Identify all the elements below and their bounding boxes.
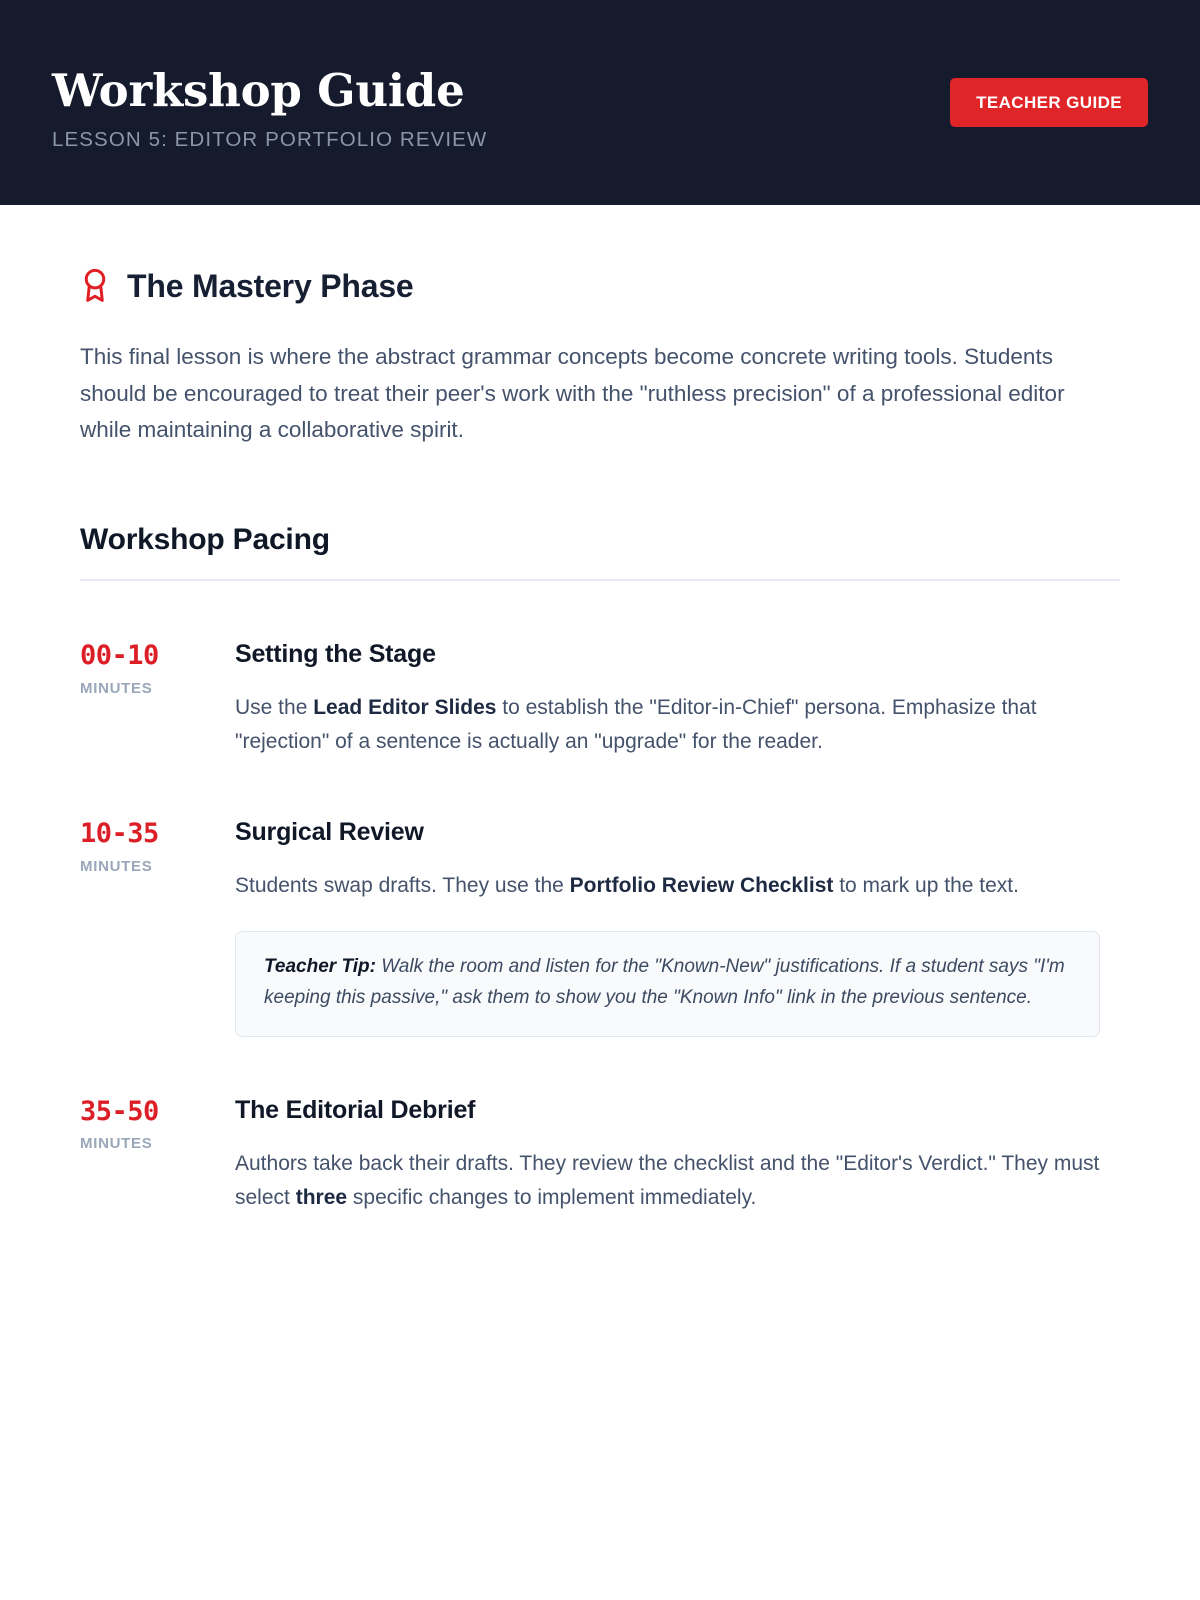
- activity-title: Surgical Review: [235, 817, 1100, 847]
- mastery-phase-heading: The Mastery Phase: [80, 205, 1120, 305]
- page-header: Workshop Guide LESSON 5: EDITOR PORTFOLI…: [0, 0, 1200, 205]
- activity-body: Authors take back their drafts. They rev…: [235, 1147, 1100, 1215]
- activity-title: The Editorial Debrief: [235, 1095, 1100, 1125]
- time-range: 35-50: [80, 1097, 235, 1127]
- teacher-tip-body: Walk the room and listen for the "Known-…: [264, 956, 1065, 1008]
- activity-body: Students swap drafts. They use the Portf…: [235, 869, 1100, 903]
- section-divider: [80, 579, 1120, 581]
- detail-column: Surgical Review Students swap drafts. Th…: [235, 817, 1100, 1037]
- time-column: 10-35 MINUTES: [80, 817, 235, 875]
- teacher-tip-box: Teacher Tip: Walk the room and listen fo…: [235, 931, 1100, 1037]
- activity-title: Setting the Stage: [235, 639, 1100, 669]
- time-range: 00-10: [80, 641, 235, 671]
- detail-column: The Editorial Debrief Authors take back …: [235, 1095, 1100, 1215]
- award-ribbon-icon: [80, 267, 110, 305]
- page-subtitle: LESSON 5: EDITOR PORTFOLIO REVIEW: [52, 128, 487, 152]
- activity-body: Use the Lead Editor Slides to establish …: [235, 691, 1100, 759]
- activity-body-post: to mark up the text.: [833, 874, 1019, 897]
- activity-body-highlight: three: [296, 1186, 347, 1209]
- teacher-guide-button[interactable]: TEACHER GUIDE: [950, 78, 1148, 127]
- teacher-tip-label: Teacher Tip:: [264, 956, 376, 977]
- time-unit-label: MINUTES: [80, 858, 235, 875]
- intro-paragraph: This final lesson is where the abstract …: [80, 339, 1080, 449]
- time-unit-label: MINUTES: [80, 680, 235, 697]
- main-content: The Mastery Phase This final lesson is w…: [0, 205, 1200, 1215]
- workshop-pacing-heading: Workshop Pacing: [80, 523, 1120, 557]
- timeline-item: 35-50 MINUTES The Editorial Debrief Auth…: [80, 1095, 1120, 1215]
- time-column: 00-10 MINUTES: [80, 639, 235, 697]
- timeline-item: 00-10 MINUTES Setting the Stage Use the …: [80, 639, 1120, 759]
- time-range: 10-35: [80, 819, 235, 849]
- page-title: Workshop Guide: [52, 67, 487, 114]
- activity-body-pre: Students swap drafts. They use the: [235, 874, 570, 897]
- activity-body-pre: Use the: [235, 696, 313, 719]
- teacher-tip-text: Teacher Tip: Walk the room and listen fo…: [264, 952, 1071, 1014]
- activity-body-highlight: Lead Editor Slides: [313, 696, 496, 719]
- activity-body-post: specific changes to implement immediatel…: [347, 1186, 756, 1209]
- header-text-block: Workshop Guide LESSON 5: EDITOR PORTFOLI…: [52, 53, 487, 152]
- time-unit-label: MINUTES: [80, 1135, 235, 1152]
- pacing-timeline: 00-10 MINUTES Setting the Stage Use the …: [80, 639, 1120, 1215]
- timeline-item: 10-35 MINUTES Surgical Review Students s…: [80, 817, 1120, 1037]
- mastery-phase-title: The Mastery Phase: [127, 270, 414, 302]
- detail-column: Setting the Stage Use the Lead Editor Sl…: [235, 639, 1100, 759]
- activity-body-highlight: Portfolio Review Checklist: [570, 874, 834, 897]
- time-column: 35-50 MINUTES: [80, 1095, 235, 1153]
